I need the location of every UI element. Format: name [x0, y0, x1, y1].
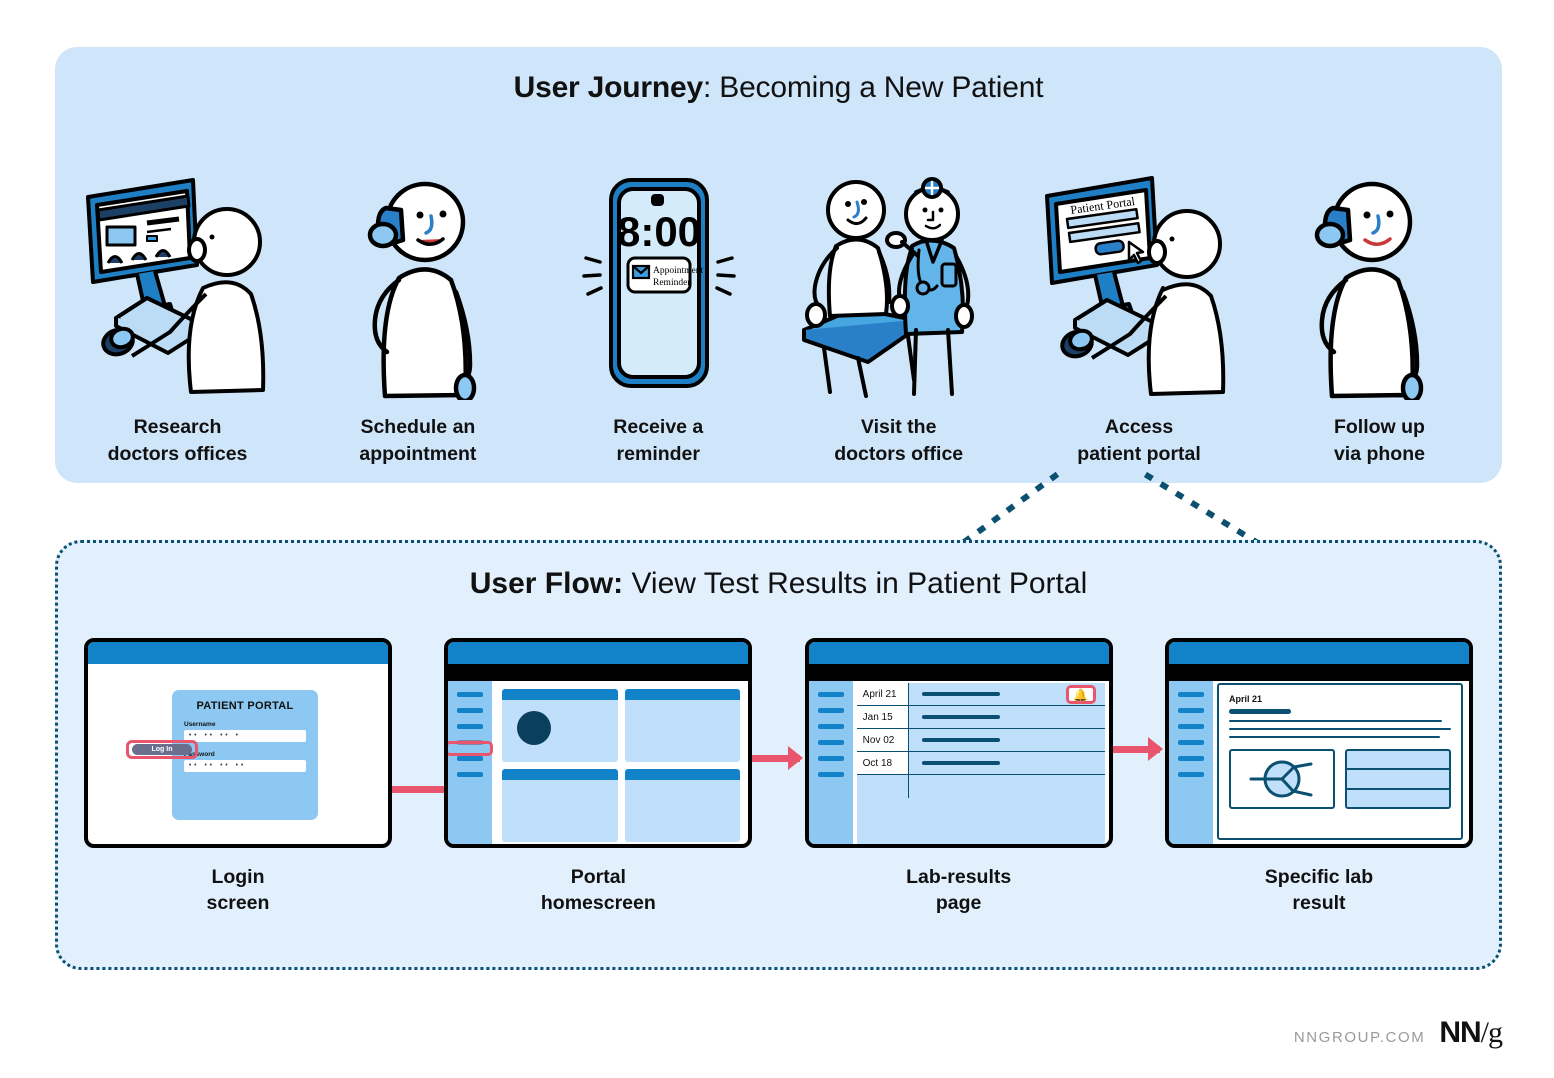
lab-results-mock: April 21 🔔 Jan 15 Nov 02 [805, 638, 1113, 848]
flow-step-label: Lab-results page [906, 864, 1011, 917]
portal-homescreen-mock [444, 638, 752, 848]
specific-result-mock: April 21 [1165, 638, 1473, 848]
password-input[interactable]: •• •• •• •• [184, 760, 306, 772]
journey-step-followup: Follow up via phone [1277, 170, 1482, 467]
logo-main: NN [1439, 1016, 1480, 1049]
result-text-line [1229, 736, 1440, 738]
journey-step-label: Visit the doctors office [834, 414, 963, 467]
row-content-bar [922, 761, 1000, 766]
result-title-bar [1229, 709, 1291, 714]
username-input[interactable]: •• •• •• • [184, 730, 306, 742]
flow-step-specific-result: April 21 [1159, 638, 1479, 917]
person-on-phone-illustration [315, 170, 520, 400]
homescreen-sidebar [448, 681, 492, 844]
browser-blue-bar [448, 642, 748, 664]
login-screen-mock: PATIENT PORTAL Username •• •• •• • Passw… [84, 638, 392, 848]
sidebar-item-2[interactable] [457, 708, 483, 713]
alert-highlight-box: 🔔 [1066, 685, 1096, 704]
sidebar-item-3[interactable] [1178, 724, 1204, 729]
flow-step-label: Login screen [207, 864, 270, 917]
browser-black-bar [1169, 664, 1469, 681]
journey-step-visit: Visit the doctors office [796, 170, 1001, 467]
flow-step-label: Specific lab result [1265, 864, 1373, 917]
sidebar-item-3[interactable] [457, 724, 483, 729]
journey-step-label: Access patient portal [1077, 414, 1201, 467]
browser-blue-bar [809, 642, 1109, 664]
sidebar-item-5[interactable] [457, 756, 483, 761]
person-on-phone-followup-illustration [1277, 170, 1482, 400]
desktop-computer-illustration [75, 170, 280, 400]
journey-step-label: Schedule an appointment [359, 414, 476, 467]
logo-slash: /g [1481, 1016, 1502, 1049]
result-table-figure [1345, 749, 1451, 809]
row-date: Oct 18 [857, 752, 909, 774]
table-row [1347, 790, 1449, 807]
card-1[interactable] [502, 689, 618, 762]
result-detail-pane: April 21 [1217, 683, 1463, 840]
sidebar-item-2[interactable] [1178, 708, 1204, 713]
card-header [625, 689, 741, 700]
sidebar-item-6[interactable] [818, 772, 844, 777]
journey-step-label: Research doctors offices [108, 414, 248, 467]
table-row [1347, 770, 1449, 789]
bell-icon[interactable]: 🔔 [1073, 689, 1088, 701]
table-row-empty [857, 775, 1105, 798]
card-3[interactable] [502, 769, 618, 842]
result-text-line [1229, 720, 1442, 722]
journey-steps-row: Research doctors offices [75, 127, 1482, 467]
card-header [625, 769, 741, 780]
pie-chart-icon [1249, 753, 1315, 805]
smartphone-notification-illustration: 8:00 Appointment Reminder [556, 170, 761, 400]
journey-title-rest: : Becoming a New Patient [703, 71, 1043, 104]
table-row[interactable]: April 21 🔔 [857, 683, 1105, 706]
footer-site-url: NNGROUP.COM [1294, 1029, 1426, 1046]
browser-blue-bar [1169, 642, 1469, 664]
sidebar-item-6[interactable] [1178, 772, 1204, 777]
browser-black-bar [448, 664, 748, 681]
lab-results-table: April 21 🔔 Jan 15 Nov 02 [857, 683, 1105, 844]
username-label: Username [184, 721, 306, 728]
table-row [1347, 751, 1449, 770]
table-row[interactable]: Oct 18 [857, 752, 1105, 775]
row-date-empty [857, 775, 909, 798]
log-in-button[interactable]: Log In [132, 744, 192, 755]
result-date: April 21 [1229, 694, 1451, 704]
browser-blue-bar [88, 642, 388, 664]
sidebar-item-5[interactable] [818, 756, 844, 761]
flow-title-bold: User Flow: [470, 567, 623, 600]
sidebar-item-3[interactable] [818, 724, 844, 729]
card-header [502, 769, 618, 780]
journey-step-portal: Patient Portal [1037, 170, 1242, 467]
svg-text:Appointment: Appointment [653, 266, 703, 276]
row-date: April 21 [857, 683, 909, 705]
sidebar-item-1[interactable] [1178, 692, 1204, 697]
table-row[interactable]: Jan 15 [857, 706, 1105, 729]
flow-title-rest: View Test Results in Patient Portal [623, 567, 1087, 600]
journey-title-bold: User Journey [514, 71, 703, 104]
flow-step-label: Portal homescreen [541, 864, 656, 917]
nng-logo: NN/g [1439, 1016, 1502, 1050]
sidebar-item-6[interactable] [457, 772, 483, 777]
svg-text:8:00: 8:00 [617, 208, 701, 255]
table-row[interactable]: Nov 02 [857, 729, 1105, 752]
journey-step-label: Follow up via phone [1334, 414, 1425, 467]
avatar [517, 711, 551, 745]
sidebar-item-2[interactable] [818, 708, 844, 713]
row-content-bar [922, 715, 1000, 720]
result-figures [1229, 749, 1451, 809]
row-content-bar [922, 738, 1000, 743]
browser-black-bar [809, 664, 1109, 681]
sidebar-item-4[interactable] [1178, 740, 1204, 745]
result-text-line [1229, 728, 1451, 730]
journey-step-reminder: 8:00 Appointment Reminder Receive a remi… [556, 170, 761, 467]
svg-text:Reminder: Reminder [653, 278, 691, 288]
footer: NNGROUP.COM NN/g [1294, 1016, 1502, 1050]
card-header [502, 689, 618, 700]
patient-portal-computer-illustration: Patient Portal [1037, 170, 1242, 400]
user-journey-panel: User Journey: Becoming a New Patient [55, 47, 1502, 483]
user-flow-panel: User Flow: View Test Results in Patient … [55, 540, 1502, 970]
patient-and-doctor-illustration [796, 170, 1001, 400]
flow-step-homescreen: Portal homescreen [438, 638, 758, 917]
login-heading: PATIENT PORTAL [184, 700, 306, 712]
login-button-highlight: Log In [126, 740, 198, 759]
sidebar-item-1[interactable] [457, 692, 483, 697]
row-content-bar [922, 692, 1000, 697]
flow-title: User Flow: View Test Results in Patient … [58, 567, 1499, 601]
journey-step-label: Receive a reminder [613, 414, 703, 467]
homescreen-cards [502, 689, 740, 842]
password-label: Password [184, 751, 306, 758]
flow-step-login: PATIENT PORTAL Username •• •• •• • Passw… [78, 638, 398, 917]
flow-step-lab-results: April 21 🔔 Jan 15 Nov 02 [799, 638, 1119, 917]
lab-results-sidebar [809, 681, 853, 844]
sidebar-item-5[interactable] [1178, 756, 1204, 761]
card-4[interactable] [625, 769, 741, 842]
row-date: Jan 15 [857, 706, 909, 728]
sidebar-item-1[interactable] [818, 692, 844, 697]
flow-steps-row: PATIENT PORTAL Username •• •• •• • Passw… [78, 638, 1479, 938]
row-date: Nov 02 [857, 729, 909, 751]
specific-result-sidebar [1169, 681, 1213, 844]
card-2[interactable] [625, 689, 741, 762]
sidebar-highlight-box [445, 741, 493, 756]
pie-chart-figure [1229, 749, 1335, 809]
sidebar-item-4[interactable] [818, 740, 844, 745]
journey-title: User Journey: Becoming a New Patient [55, 71, 1502, 105]
journey-step-schedule: Schedule an appointment [315, 170, 520, 467]
journey-step-research: Research doctors offices [75, 170, 280, 467]
